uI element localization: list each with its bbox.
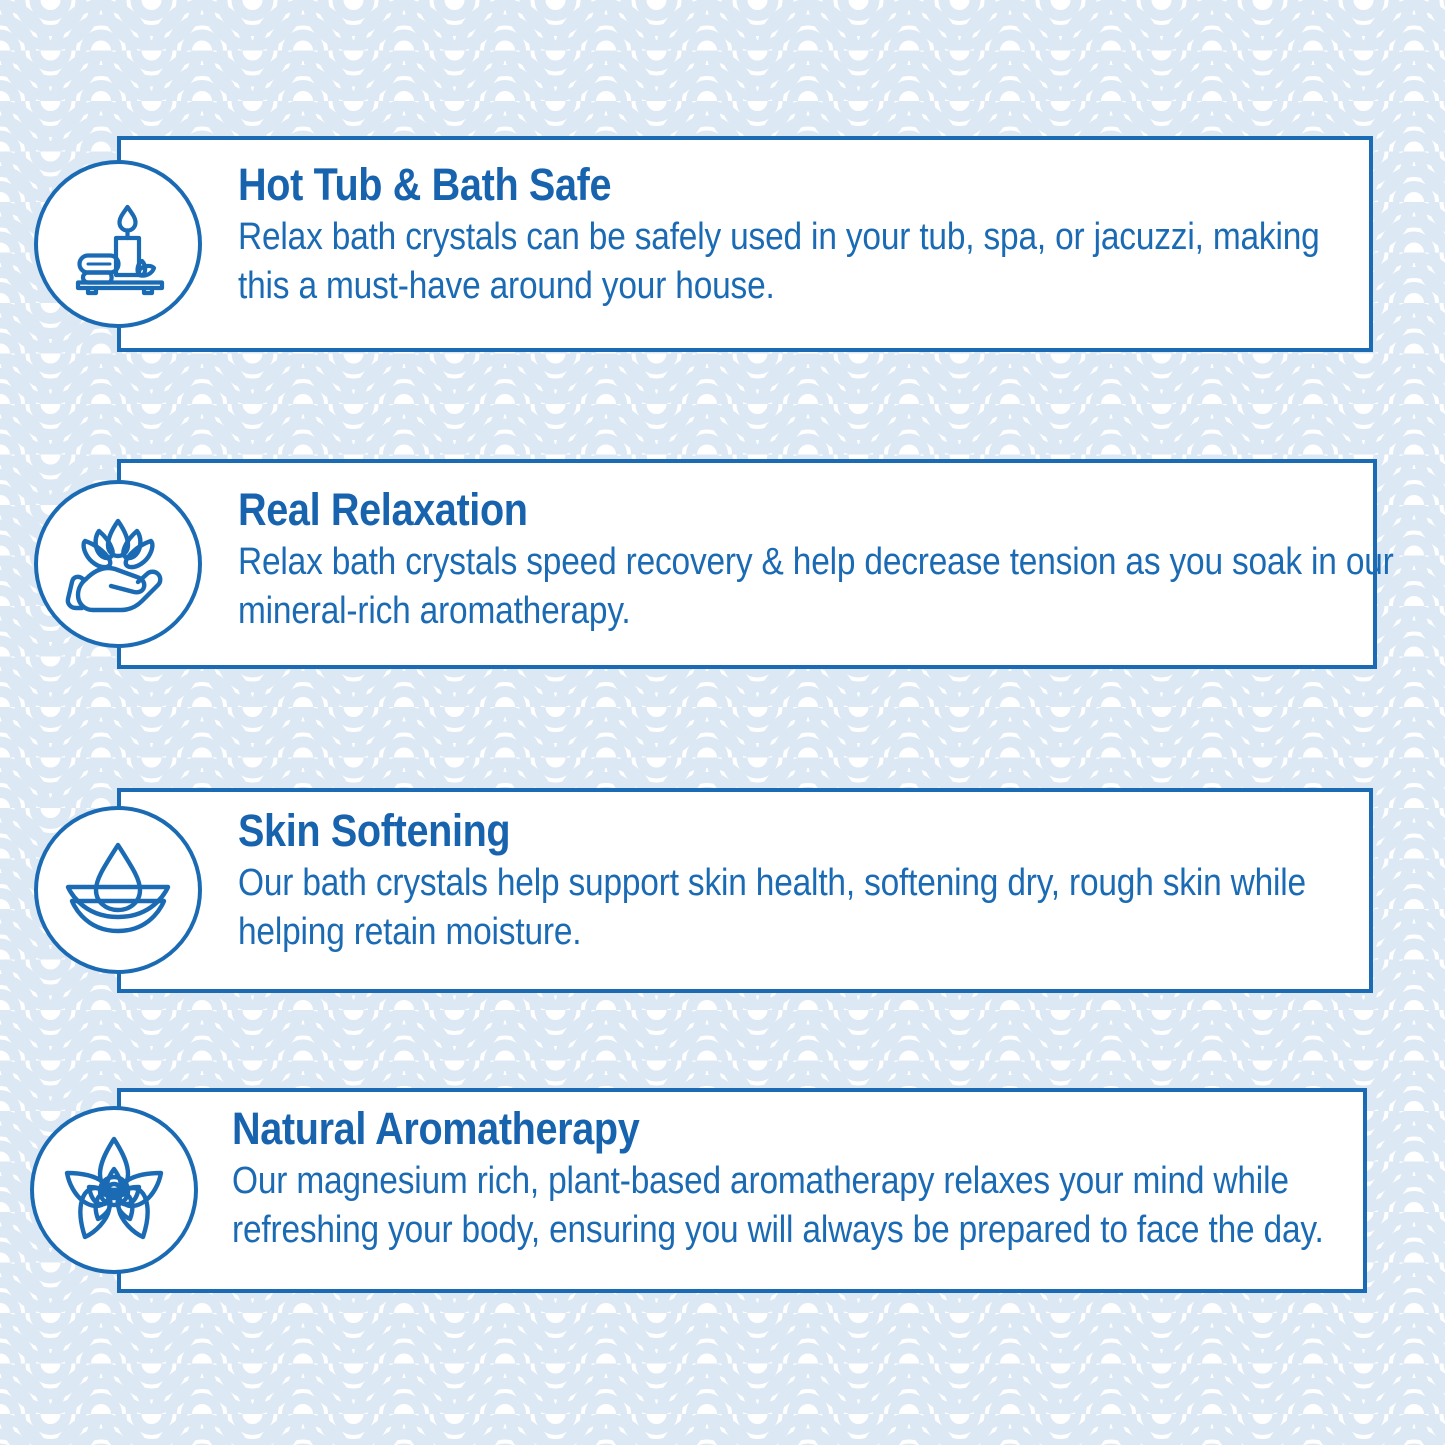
feature-text-block: Hot Tub & Bath Safe Relax bath crystals … — [238, 162, 1358, 312]
feature-body: Relax bath crystals speed recovery & hel… — [238, 538, 1428, 637]
five-petal-flower-icon — [55, 1131, 173, 1249]
card-border-left-lower — [117, 1271, 121, 1293]
card-border-bottom — [117, 1289, 1367, 1293]
feature-list-page: Hot Tub & Bath Safe Relax bath crystals … — [0, 0, 1445, 1445]
candle-towels-spa-icon — [66, 192, 170, 296]
card-border-bottom — [117, 348, 1373, 352]
feature-title: Natural Aromatherapy — [232, 1106, 1253, 1153]
feature-title: Skin Softening — [238, 808, 1224, 855]
card-border-top — [117, 788, 1373, 792]
feature-body: Our bath crystals help support skin heal… — [238, 859, 1358, 958]
card-border-left-lower — [117, 645, 121, 669]
feature-icon-badge — [34, 480, 202, 648]
card-border-right — [1369, 788, 1373, 993]
feature-body: Our magnesium rich, plant-based aromathe… — [232, 1157, 1392, 1256]
feature-body: Relax bath crystals can be safely used i… — [238, 213, 1358, 312]
feature-icon-badge — [30, 1106, 198, 1274]
card-border-bottom — [117, 665, 1377, 669]
feature-icon-badge — [34, 160, 202, 328]
feature-text-block: Real Relaxation Relax bath crystals spee… — [238, 487, 1428, 637]
card-border-top — [117, 1088, 1367, 1092]
card-border-left-lower — [117, 326, 121, 352]
card-border-right — [1369, 136, 1373, 352]
feature-title: Hot Tub & Bath Safe — [238, 162, 1224, 209]
card-border-left-lower — [117, 971, 121, 993]
feature-text-block: Skin Softening Our bath crystals help su… — [238, 808, 1358, 958]
water-drop-in-bowl-icon — [60, 835, 176, 945]
card-border-bottom — [117, 989, 1373, 993]
feature-title: Real Relaxation — [238, 487, 1285, 534]
card-border-left-upper — [117, 136, 121, 162]
card-border-top — [117, 459, 1377, 463]
feature-text-block: Natural Aromatherapy Our magnesium rich,… — [232, 1106, 1392, 1256]
lotus-in-hand-icon — [63, 509, 173, 619]
feature-icon-badge — [34, 806, 202, 974]
card-border-top — [117, 136, 1373, 140]
